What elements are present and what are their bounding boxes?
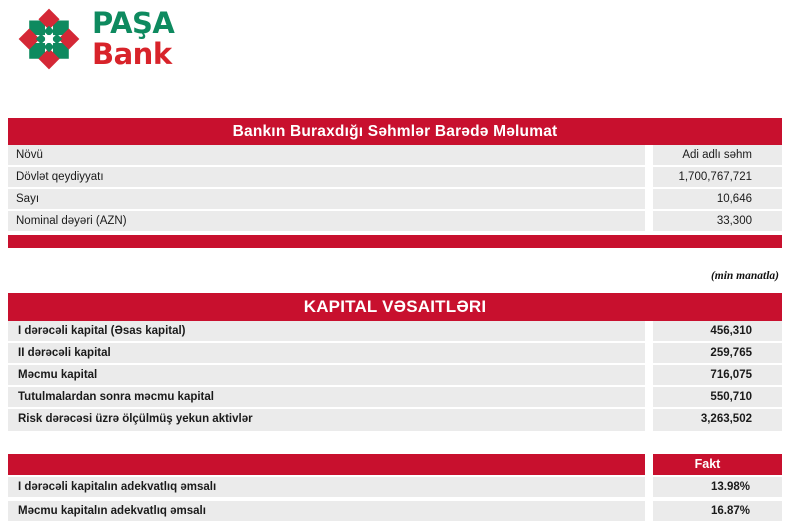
row-label: Nominal dəyəri (AZN)	[8, 211, 645, 231]
column-divider	[645, 387, 653, 407]
table-row: Məcmu kapitalın adekvatlıq əmsalı 16.87%	[8, 501, 782, 523]
row-value: 716,075	[653, 365, 782, 385]
brand-wordmark: PAŞA Bank	[92, 8, 292, 74]
row-value: 33,300	[653, 211, 782, 231]
table-row: Tutulmalardan sonra məcmu kapital 550,71…	[8, 387, 782, 409]
table-row: Məcmu kapital 716,075	[8, 365, 782, 387]
row-value: 13.98%	[653, 477, 782, 497]
row-value: Adi adlı səhm	[653, 145, 782, 165]
row-label: Sayı	[8, 189, 645, 209]
column-divider	[645, 145, 653, 165]
capital-funds-table: KAPITAL VƏSAITLƏRI I dərəcəli kapital (Ə…	[8, 293, 782, 431]
row-label: Məcmu kapitalın adekvatlıq əmsalı	[8, 501, 645, 521]
row-value: 1,700,767,721	[653, 167, 782, 187]
column-divider	[645, 365, 653, 385]
column-divider	[645, 189, 653, 209]
row-value: 550,710	[653, 387, 782, 407]
ratio-table-header-row: Fakt	[8, 454, 782, 475]
row-value: 456,310	[653, 321, 782, 341]
capital-table-title: KAPITAL VƏSAITLƏRI	[8, 293, 782, 321]
column-divider	[645, 477, 653, 497]
row-value: 16.87%	[653, 501, 782, 521]
table-row: Nominal dəyəri (AZN) 33,300	[8, 211, 782, 233]
table-row: II dərəcəli kapital 259,765	[8, 343, 782, 365]
column-divider	[645, 454, 653, 475]
column-divider	[645, 501, 653, 521]
shares-table-title: Bankın Buraxdığı Səhmlər Barədə Məlumat	[8, 118, 782, 145]
unit-note: (min manatla)	[711, 270, 779, 282]
row-label: Risk dərəcəsi üzrə ölçülmüş yekun aktivl…	[8, 409, 645, 431]
row-value: 259,765	[653, 343, 782, 363]
table-bottom-accent-bar	[8, 235, 782, 248]
brand-name-line1: PAŞA	[92, 8, 292, 39]
brand-name-line2: Bank	[92, 39, 292, 70]
row-value: 10,646	[653, 189, 782, 209]
row-value: 3,263,502	[653, 409, 782, 431]
column-divider	[645, 211, 653, 231]
row-label: I dərəcəli kapitalın adekvatlıq əmsalı	[8, 477, 645, 497]
capital-adequacy-table: Fakt I dərəcəli kapitalın adekvatlıq əms…	[8, 454, 782, 523]
table-row: Sayı 10,646	[8, 189, 782, 211]
column-divider	[645, 409, 653, 431]
row-label: I dərəcəli kapital (Əsas kapital)	[8, 321, 645, 341]
table-row: Risk dərəcəsi üzrə ölçülmüş yekun aktivl…	[8, 409, 782, 431]
row-label: Tutulmalardan sonra məcmu kapital	[8, 387, 645, 407]
column-divider	[645, 343, 653, 363]
ratio-header-fakt: Fakt	[653, 454, 782, 475]
table-row: Dövlət qeydiyyatı 1,700,767,721	[8, 167, 782, 189]
shares-info-table: Bankın Buraxdığı Səhmlər Barədə Məlumat …	[8, 118, 782, 248]
ratio-header-left	[8, 454, 645, 475]
table-row: I dərəcəli kapital (Əsas kapital) 456,31…	[8, 321, 782, 343]
column-divider	[645, 167, 653, 187]
pasha-pinwheel-logo-icon	[16, 6, 82, 72]
row-label: Məcmu kapital	[8, 365, 645, 385]
row-label: Növü	[8, 145, 645, 165]
table-row: I dərəcəli kapitalın adekvatlıq əmsalı 1…	[8, 477, 782, 499]
row-label: Dövlət qeydiyyatı	[8, 167, 645, 187]
table-row: Növü Adi adlı səhm	[8, 145, 782, 167]
row-label: II dərəcəli kapital	[8, 343, 645, 363]
column-divider	[645, 321, 653, 341]
brand-logo: PAŞA Bank	[0, 0, 320, 85]
